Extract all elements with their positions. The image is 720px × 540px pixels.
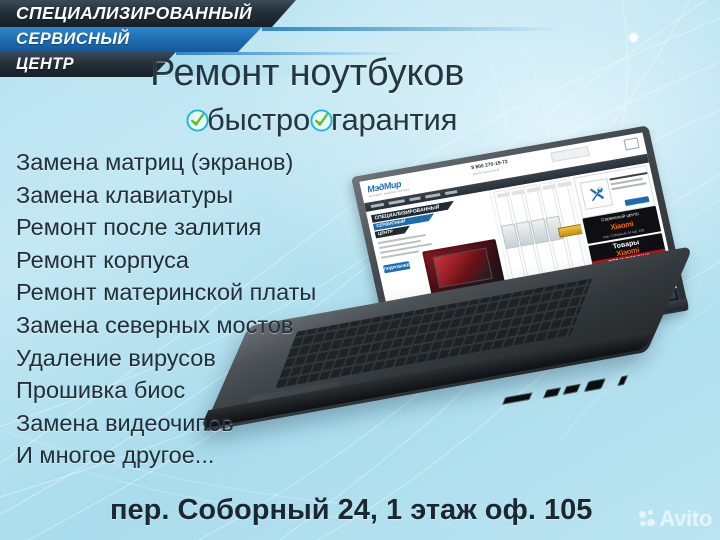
- subtitle-word-warranty: гарантия: [331, 102, 457, 138]
- list-item: И многое другое...: [16, 439, 316, 472]
- service-card-text: [609, 172, 650, 193]
- banner-text-line3: ЦЕНТР: [16, 55, 74, 74]
- avito-dot: [647, 519, 655, 527]
- list-item: Удаление вирусов: [16, 342, 316, 375]
- usb-port-icon: [562, 384, 581, 395]
- subtitle-row: быстро гарантия: [186, 102, 457, 138]
- glow-dot-decoration: [628, 32, 639, 43]
- green-check-badge-icon: [186, 109, 209, 132]
- ribbon-accent-line-1: [262, 27, 562, 31]
- avito-dots-logo-icon: [639, 510, 656, 529]
- wrench-screwdriver-icon: [580, 178, 614, 210]
- card-cta-button: [625, 196, 650, 206]
- usb-port-icon: [543, 387, 562, 398]
- nav-item: [425, 193, 440, 199]
- list-item: Замена северных мостов: [16, 309, 316, 342]
- list-item: Прошивка биос: [16, 374, 316, 407]
- sd-card-slot-icon: [502, 392, 533, 405]
- green-check-badge-icon: [310, 109, 333, 132]
- lock-slot-icon: [617, 375, 628, 386]
- avito-dot: [639, 511, 646, 518]
- subtitle-word-fast: быстро: [207, 102, 310, 138]
- banner-text-line1: СПЕЦИАЛИЗИРОВАННЫЙ: [16, 3, 252, 24]
- search-box-icon: [550, 146, 590, 162]
- avito-dot: [640, 521, 646, 527]
- banner-bar-specialized: СПЕЦИАЛИЗИРОВАННЫЙ: [0, 0, 296, 27]
- nav-item: [388, 199, 404, 205]
- avito-dot: [648, 510, 653, 515]
- banner-bar-service: СЕРВИСНЫЙ: [0, 27, 262, 52]
- page-title: Ремонт ноутбуков: [150, 52, 464, 95]
- nav-item: [445, 190, 458, 195]
- avito-wordmark: Avito: [659, 506, 712, 532]
- list-item: Ремонт корпуса: [16, 244, 316, 277]
- hero-banner-text3: ЦЕНТР: [378, 230, 394, 237]
- vga-port-icon: [584, 378, 607, 392]
- list-item: Ремонт после залития: [16, 211, 316, 244]
- avito-watermark: Avito: [639, 506, 712, 532]
- address-text: пер. Соборный 24, 1 этаж оф. 105: [110, 494, 592, 527]
- hero-cta-button: ПОДРОБНЕЕ: [383, 261, 410, 273]
- nav-item: [371, 203, 385, 208]
- product-badge: [557, 181, 572, 187]
- list-item: Замена видеочипов: [16, 407, 316, 440]
- services-list: Замена матриц (экранов) Замена клавиатур…: [16, 146, 316, 472]
- nav-item: [409, 196, 421, 201]
- advertisement-poster: СПЕЦИАЛИЗИРОВАННЫЙ СЕРВИСНЫЙ ЦЕНТР Ремон…: [0, 0, 720, 540]
- list-item: Замена клавиатуры: [16, 179, 316, 212]
- shopping-cart-icon: [623, 137, 639, 150]
- banner-text-line2: СЕРВИСНЫЙ: [16, 30, 130, 49]
- list-item: Ремонт материнской платы: [16, 276, 316, 309]
- list-item: Замена матриц (экранов): [16, 146, 316, 179]
